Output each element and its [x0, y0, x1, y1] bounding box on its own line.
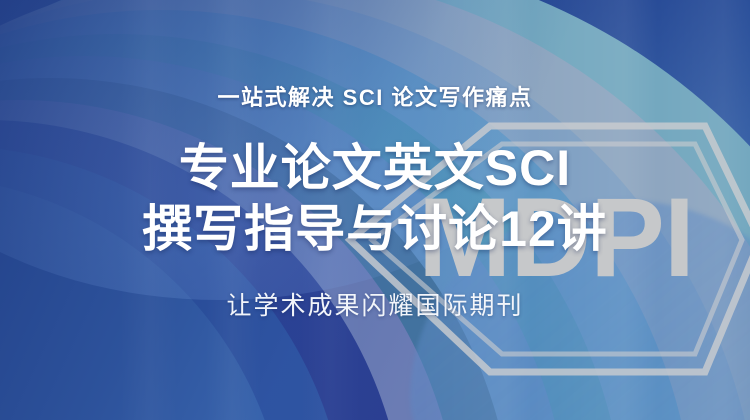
banner-title-line-1: 专业论文英文SCI [142, 138, 608, 199]
banner-tagline: 让学术成果闪耀国际期刊 [226, 286, 523, 322]
banner-kicker: 一站式解决 SCI 论文写作痛点 [218, 80, 533, 112]
banner-title: 专业论文英文SCI 撰写指导与讨论12讲 [142, 138, 608, 260]
banner-content: 一站式解决 SCI 论文写作痛点 专业论文英文SCI 撰写指导与讨论12讲 让学… [0, 0, 750, 420]
banner-title-line-2: 撰写指导与讨论12讲 [142, 199, 608, 260]
promo-banner: MDPI 一站式解决 SCI 论文写作痛点 专业论文英文SCI 撰写指导与讨论1… [0, 0, 750, 420]
